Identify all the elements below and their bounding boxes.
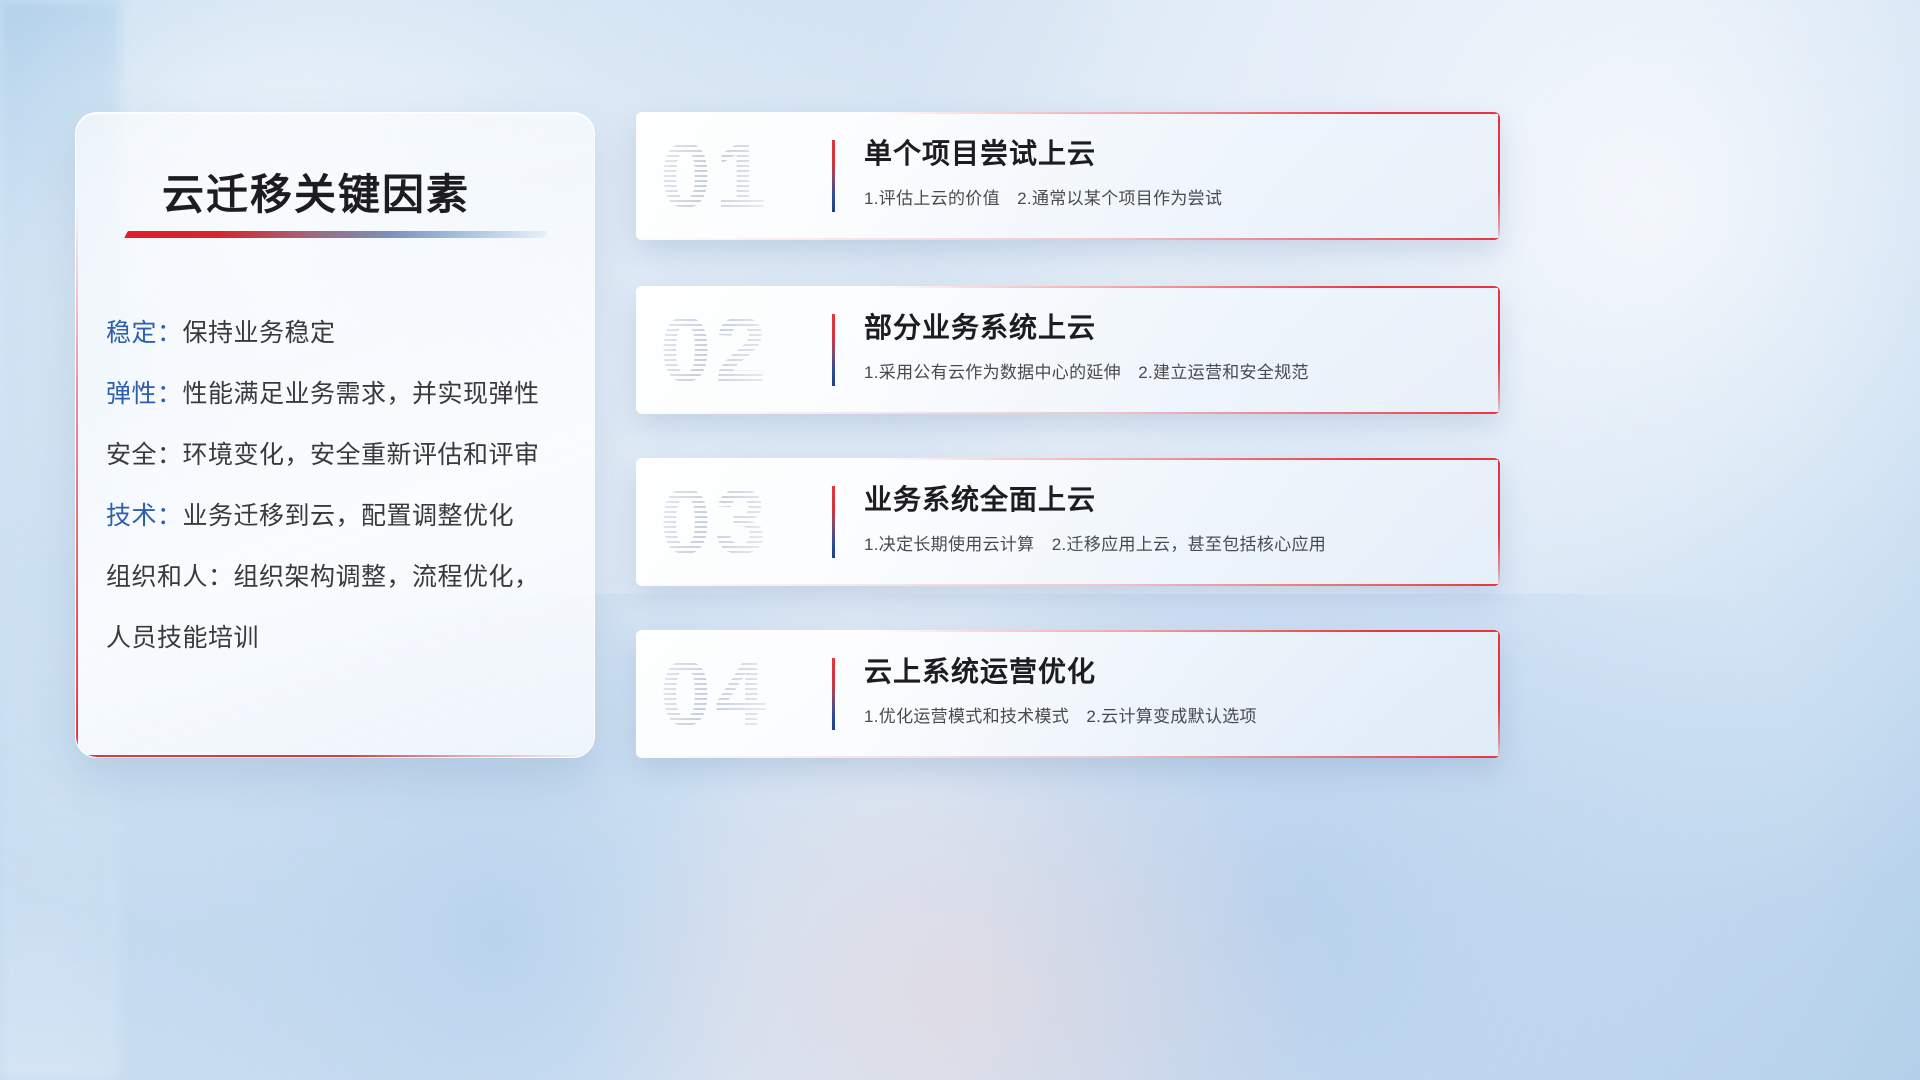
- list-item: 安全：环境变化，安全重新评估和评审: [106, 425, 570, 486]
- card-bottom-accent: [636, 412, 1500, 414]
- stage-body: 业务系统全面上云 1.决定长期使用云计算 2.迁移应用上云，甚至包括核心应用: [864, 484, 1472, 555]
- list-item-text: 保持业务稳定: [183, 319, 336, 347]
- list-item-text: 环境变化，安全重新评估和评审: [183, 441, 540, 469]
- list-item: 组织和人：组织架构调整，流程优化，: [106, 547, 570, 608]
- list-item-label: 组织和人：: [106, 563, 234, 591]
- stage-description: 1.优化运营模式和技术模式 2.云计算变成默认选项: [864, 702, 1472, 727]
- list-item-text: 人员技能培训: [106, 624, 259, 652]
- stage-number: 03: [660, 476, 770, 568]
- list-item-text: 性能满足业务需求，并实现弹性: [183, 380, 540, 408]
- stage-divider: [832, 658, 835, 730]
- card-bottom-accent: [636, 584, 1500, 586]
- key-factors-list: 稳定：保持业务稳定 弹性：性能满足业务需求，并实现弹性 安全：环境变化，安全重新…: [106, 303, 570, 669]
- stage-body: 部分业务系统上云 1.采用公有云作为数据中心的延伸 2.建立运营和安全规范: [864, 312, 1472, 383]
- list-item-label: 弹性：: [106, 380, 183, 408]
- stage-number: 01: [660, 130, 770, 222]
- key-factors-panel: 云迁移关键因素 稳定：保持业务稳定 弹性：性能满足业务需求，并实现弹性 安全：环…: [75, 112, 595, 758]
- list-item-text: 业务迁移到云，配置调整优化: [183, 502, 515, 530]
- title-underline-accent: [124, 231, 548, 238]
- stage-title: 云上系统运营优化: [864, 656, 1472, 688]
- panel-title: 云迁移关键因素: [162, 161, 470, 222]
- list-item-label: 技术：: [106, 502, 183, 530]
- stage-body: 单个项目尝试上云 1.评估上云的价值 2.通常以某个项目作为尝试: [864, 138, 1472, 209]
- stage-divider: [832, 140, 835, 212]
- stage-title: 单个项目尝试上云: [864, 138, 1472, 170]
- list-item-label: 安全：: [106, 441, 183, 469]
- list-item: 人员技能培训: [106, 608, 570, 669]
- stage-description: 1.采用公有云作为数据中心的延伸 2.建立运营和安全规范: [864, 358, 1472, 383]
- stage-title: 部分业务系统上云: [864, 312, 1472, 344]
- stage-card[interactable]: 01 单个项目尝试上云 1.评估上云的价值 2.通常以某个项目作为尝试: [636, 112, 1500, 240]
- list-item-text: 组织架构调整，流程优化，: [234, 563, 540, 591]
- card-bottom-accent: [636, 756, 1500, 758]
- list-item: 稳定：保持业务稳定: [106, 303, 570, 364]
- stage-number: 02: [660, 304, 770, 396]
- stage-card[interactable]: 04 云上系统运营优化 1.优化运营模式和技术模式 2.云计算变成默认选项: [636, 630, 1500, 758]
- stage-divider: [832, 314, 835, 386]
- stage-card[interactable]: 02 部分业务系统上云 1.采用公有云作为数据中心的延伸 2.建立运营和安全规范: [636, 286, 1500, 414]
- stage-description: 1.评估上云的价值 2.通常以某个项目作为尝试: [864, 184, 1472, 209]
- stage-number: 04: [660, 648, 770, 740]
- background-warm-tint: [576, 702, 1344, 1080]
- stage-card[interactable]: 03 业务系统全面上云 1.决定长期使用云计算 2.迁移应用上云，甚至包括核心应…: [636, 458, 1500, 586]
- list-item: 弹性：性能满足业务需求，并实现弹性: [106, 364, 570, 425]
- stage-title: 业务系统全面上云: [864, 484, 1472, 516]
- stage-divider: [832, 486, 835, 558]
- stage-description: 1.决定长期使用云计算 2.迁移应用上云，甚至包括核心应用: [864, 530, 1472, 555]
- list-item: 技术：业务迁移到云，配置调整优化: [106, 486, 570, 547]
- list-item-label: 稳定：: [106, 319, 183, 347]
- card-bottom-accent: [636, 238, 1500, 240]
- stage-body: 云上系统运营优化 1.优化运营模式和技术模式 2.云计算变成默认选项: [864, 656, 1472, 727]
